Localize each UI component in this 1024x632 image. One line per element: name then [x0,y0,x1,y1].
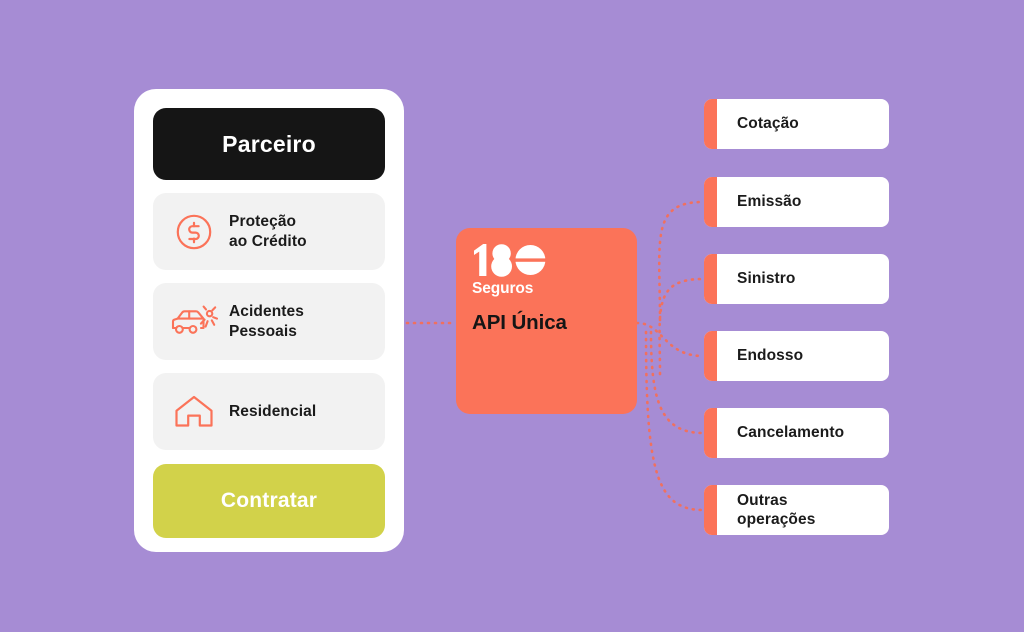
product-label-acidentes-pessoais: Acidentes Pessoais [229,302,304,341]
180-logo-icon [472,243,546,277]
house-icon [165,387,223,437]
operation-accent-bar [704,331,717,381]
operation-label-sinistro: Sinistro [737,269,796,288]
operation-label-endosso: Endosso [737,346,803,365]
car-crash-icon [165,297,223,347]
connector-api-to-cancelamento [651,332,703,433]
partner-card: Parceiro Proteção ao Crédito [134,89,404,552]
operation-card-endosso[interactable]: Endosso [704,331,889,381]
diagram-canvas: Parceiro Proteção ao Crédito [0,0,1024,632]
connector-api-to-sinistro [660,279,703,374]
operation-label-outras-operacoes: Outras operações [737,491,815,530]
contratar-button[interactable]: Contratar [153,464,385,538]
operation-accent-bar [704,99,717,149]
operation-accent-bar [704,254,717,304]
operation-card-sinistro[interactable]: Sinistro [704,254,889,304]
connector-api-to-endosso [637,323,703,356]
product-label-residencial: Residencial [229,402,316,422]
operation-card-cotacao[interactable]: Cotação [704,99,889,149]
api-unica-box: Seguros API Única [456,228,637,414]
product-label-protecao-ao-credito: Proteção ao Crédito [229,212,307,251]
connector-api-to-emissao [659,202,703,320]
product-row-acidentes-pessoais[interactable]: Acidentes Pessoais [153,283,385,360]
logo-wordmark: Seguros [472,280,637,298]
partner-header: Parceiro [153,108,385,180]
partner-header-label: Parceiro [222,131,316,158]
operation-label-emissao: Emissão [737,192,801,211]
operation-accent-bar [704,485,717,535]
product-row-protecao-ao-credito[interactable]: Proteção ao Crédito [153,193,385,270]
operation-label-cotacao: Cotação [737,114,799,133]
operation-card-cancelamento[interactable]: Cancelamento [704,408,889,458]
operation-card-emissao[interactable]: Emissão [704,177,889,227]
operation-label-cancelamento: Cancelamento [737,423,844,442]
connector-api-to-outras [646,332,703,510]
dollar-circle-icon [165,207,223,257]
operation-accent-bar [704,408,717,458]
contratar-button-label: Contratar [221,489,317,513]
product-row-residencial[interactable]: Residencial [153,373,385,450]
api-unica-title: API Única [472,311,637,335]
operation-accent-bar [704,177,717,227]
operation-card-outras-operacoes[interactable]: Outras operações [704,485,889,535]
